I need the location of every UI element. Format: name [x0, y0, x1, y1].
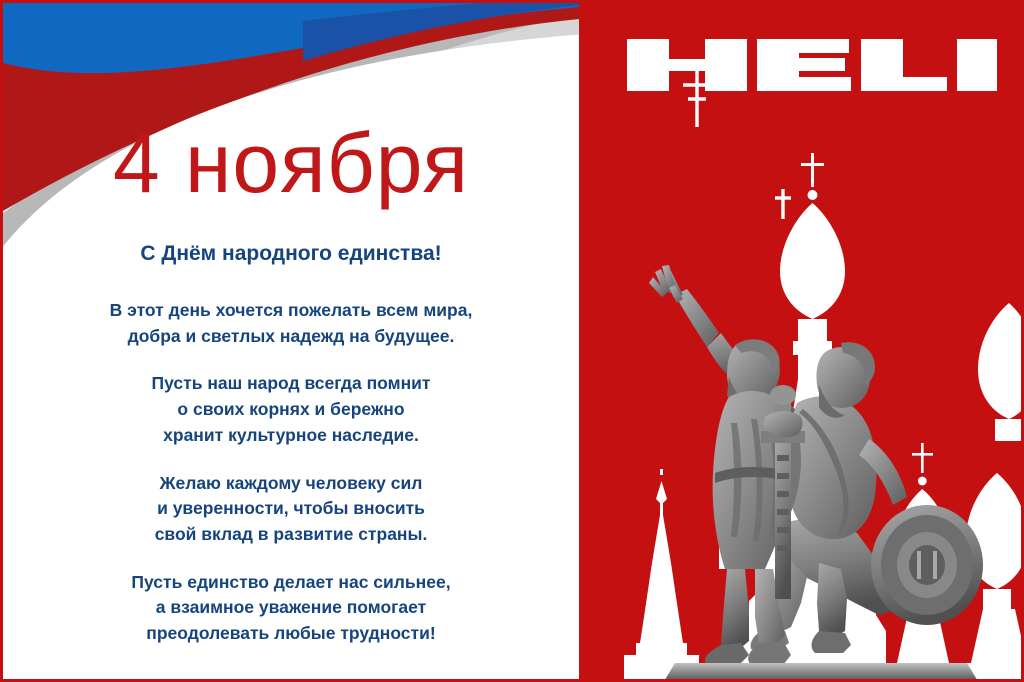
verse-paragraph: Желаю каждому человеку сил и уверенности… — [3, 471, 579, 548]
page-title: 4 ноября — [3, 121, 579, 205]
verse-line: преодолевать любые трудности! — [3, 621, 579, 647]
right-panel — [579, 3, 1024, 682]
monument-scene — [579, 3, 1024, 682]
heli-logo-mark — [617, 25, 997, 103]
verse-line: Пусть единство делает нас сильнее, — [3, 570, 579, 596]
verse-paragraph: Пусть единство делает нас сильнее, а вза… — [3, 570, 579, 647]
statue-shield — [871, 505, 983, 625]
verse-paragraph: В этот день хочется пожелать всем мира, … — [3, 298, 579, 349]
monument-artwork — [579, 3, 1024, 682]
left-panel: 4 ноября С Днём народного единства! В эт… — [3, 3, 579, 682]
verse-line: хранит культурное наследие. — [3, 423, 579, 449]
verse-line: добра и светлых надежд на будущее. — [3, 324, 579, 350]
left-text-stack: 4 ноября С Днём народного единства! В эт… — [3, 3, 579, 682]
verse-line: В этот день хочется пожелать всем мира, — [3, 298, 579, 324]
verse-line: о своих корнях и бережно — [3, 397, 579, 423]
verse-line: и уверенности, чтобы вносить — [3, 496, 579, 522]
verse-line: Желаю каждому человеку сил — [3, 471, 579, 497]
subtitle: С Днём народного единства! — [3, 242, 579, 266]
verse-line: Пусть наш народ всегда помнит — [3, 371, 579, 397]
verse-paragraph: Пусть наш народ всегда помнит о своих ко… — [3, 371, 579, 448]
heli-logo — [617, 25, 997, 103]
verse-line: свой вклад в развитие страны. — [3, 522, 579, 548]
greeting-card: 4 ноября С Днём народного единства! В эт… — [0, 0, 1024, 682]
verse-line: а взаимное уважение помогает — [3, 595, 579, 621]
verse-list: В этот день хочется пожелать всем мира, … — [3, 298, 579, 647]
